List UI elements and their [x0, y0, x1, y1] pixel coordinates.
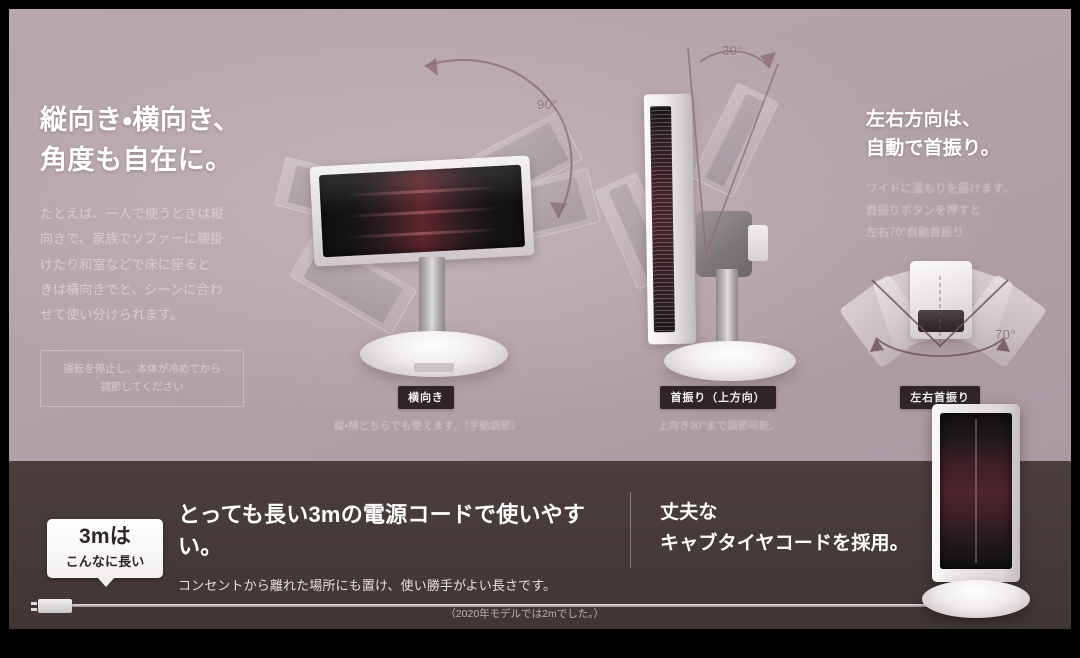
letterbox-top [0, 0, 1080, 9]
product-photo-base [922, 580, 1030, 618]
heater-grille-stripes [650, 106, 675, 332]
caption-vertical-tilt: 上向き30°まで調節可能。 [608, 418, 830, 433]
heater-base-plate [360, 331, 508, 377]
callout-label: こんなに長い [53, 551, 157, 570]
power-plug-icon [38, 599, 72, 613]
cord-length-text-block: とっても長い3mの電源コードで使いやすい。 コンセントから離れた場所にも置け、使… [178, 497, 618, 621]
arrow-head-start-90 [425, 58, 438, 76]
cord-footnote: （2020年モデルでは2mでした。） [178, 606, 618, 621]
heater-base-plate [664, 341, 796, 381]
right-body-line-1: ワイドに温もりを届けます。 [866, 178, 1066, 200]
right-headline-line-1: 左右方向は、 [866, 105, 1066, 134]
figure-vertical-heater-tilt [628, 69, 818, 399]
left-body-copy: たとえば、一人で使うときは縦 向きで、家族でソファーに腰掛 けたり和室などで床に… [40, 201, 290, 328]
cord-headline: とっても長い3mの電源コードで使いやすい。 [178, 497, 618, 561]
right-body-line-3: 左右70°自動首振り [866, 222, 1066, 244]
left-body-line-3: けたり和室などで床に座ると [40, 252, 290, 277]
letterbox-bottom [0, 629, 1080, 658]
letterbox-left [0, 0, 9, 658]
left-body-line-5: せて使い分けられます。 [40, 302, 290, 327]
heater-head-horizontal [310, 155, 535, 266]
cord-subtext: コンセントから離れた場所にも置け、使い勝手がよい長さです。 [178, 575, 618, 594]
product-photo-body [932, 404, 1020, 582]
product-photo-center-divider [975, 419, 977, 563]
left-headline-line-2: 角度も自在に。 [40, 141, 290, 181]
angle-label-30: 30° [722, 43, 743, 58]
badge-vertical-tilt: 首振り（上方向） [660, 386, 775, 409]
cord-type-headline: 丈夫な キャブタイヤコードを採用。 [660, 498, 960, 560]
angle-label-70: 70° [995, 327, 1016, 342]
left-body-line-2: 向きで、家族でソファーに腰掛 [40, 226, 290, 251]
band-vertical-divider [630, 492, 631, 568]
ghost-tilt-position-upper [691, 82, 779, 197]
cord-type-text-block: 丈夫な キャブタイヤコードを採用。 [660, 498, 960, 560]
figure-top-down-sweep [848, 259, 1038, 375]
heater-top-view-center [910, 261, 972, 339]
angle-label-90: 90° [537, 97, 558, 112]
heater-element-window [319, 165, 525, 257]
heater-element-window [650, 106, 675, 332]
right-body-copy: ワイドに温もりを届けます。 首振りボタンを押すと 左右70°自動首振り [866, 178, 1066, 244]
caution-note-line-1: 運転を停止し、本体が冷めてから [49, 360, 235, 378]
badge-horizontal: 横向き [398, 386, 454, 409]
cord-type-line-1: 丈夫な [660, 498, 960, 529]
product-photo-vertical-heater [922, 404, 1034, 629]
left-body-line-1: たとえば、一人で使うときは縦 [40, 201, 290, 226]
left-body-line-4: きは横向きでと、シーンに合わ [40, 277, 290, 302]
tilt-hinge-joint [696, 211, 752, 277]
caption-group-vertical: 首振り（上方向） 上向き30°まで調節可能。 [628, 386, 808, 409]
caption-group-horizontal: 横向き 縦・横どちらでも使えます。（手動調節） [336, 386, 516, 409]
caution-note-box: 運転を停止し、本体が冷めてから 調節してください [40, 350, 244, 408]
arrow-head-30 [760, 52, 776, 68]
right-text-column: 左右方向は、 自動で首振り。 ワイドに温もりを届けます。 首振りボタンを押すと … [866, 105, 1066, 244]
cord-length-callout: 3mは こんなに長い [47, 519, 163, 578]
callout-value: 3mは [53, 526, 157, 548]
figure-horizontal-heater [286, 139, 586, 409]
right-headline-line-2: 自動で首振り。 [866, 134, 1066, 163]
ghost-glass-panel [705, 93, 764, 186]
caution-note-line-2: 調節してください [49, 378, 235, 396]
heater-neck-post [716, 269, 738, 351]
upper-feature-panel: 縦向き・横向き、 角度も自在に。 たとえば、一人で使うときは縦 向きで、家族でソ… [0, 9, 1080, 461]
heater-tube [346, 228, 499, 239]
heater-head-vertical [644, 94, 696, 345]
left-text-column: 縦向き・横向き、 角度も自在に。 たとえば、一人で使うときは縦 向きで、家族でソ… [40, 101, 290, 407]
right-headline: 左右方向は、 自動で首振り。 [866, 105, 1066, 164]
letterbox-right [1071, 0, 1080, 658]
callout-bubble: 3mは こんなに長い [47, 519, 163, 578]
right-body-line-2: 首振りボタンを押すと [866, 200, 1066, 222]
cord-type-line-2: キャブタイヤコードを採用。 [660, 529, 960, 560]
product-feature-screenshot: 縦向き・横向き、 角度も自在に。 たとえば、一人で使うときは縦 向きで、家族でソ… [0, 0, 1080, 658]
left-headline: 縦向き・横向き、 角度も自在に。 [40, 101, 290, 181]
product-photo-element-window [940, 413, 1012, 569]
heater-neck-post [419, 257, 445, 341]
left-headline-line-1: 縦向き・横向き、 [40, 101, 290, 141]
caption-horizontal: 縦・横どちらでも使えます。（手動調節） [304, 418, 552, 433]
